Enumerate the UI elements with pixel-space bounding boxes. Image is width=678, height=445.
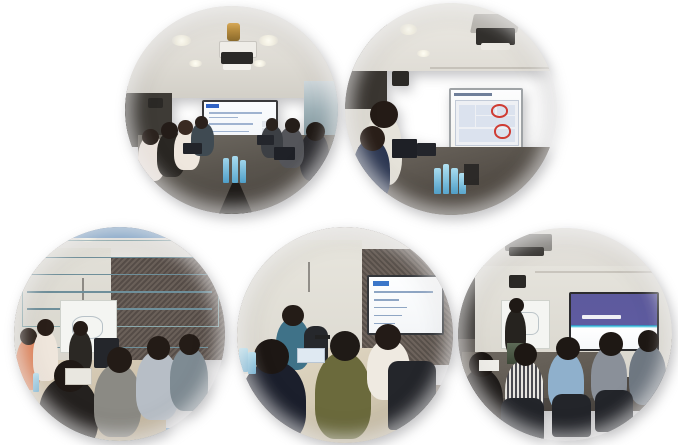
presenter-head	[73, 321, 88, 336]
wall-trim	[430, 67, 549, 69]
photo-4-image	[237, 227, 453, 443]
collage-photo-1[interactable]	[125, 6, 338, 214]
laptop	[274, 147, 295, 159]
conference-room-scene-5	[458, 228, 672, 441]
ceiling-light-icon	[417, 50, 430, 57]
water-bottle	[443, 164, 450, 194]
laptop	[257, 135, 274, 145]
laptop	[183, 143, 202, 153]
participant-head	[107, 347, 132, 373]
attendee-head	[599, 332, 623, 355]
woman-head	[370, 101, 398, 129]
speaker-icon	[392, 71, 409, 86]
tissue-box	[65, 368, 92, 385]
ac-cable	[308, 262, 310, 292]
participant-head	[147, 336, 170, 360]
participant	[170, 347, 208, 411]
attendee-head	[556, 337, 580, 360]
projector-mount-icon	[223, 64, 251, 70]
photo-collage	[0, 0, 678, 445]
meeting-room-scene-4	[237, 227, 453, 443]
tissue-box	[297, 348, 325, 363]
ceiling-light-icon	[172, 35, 191, 45]
attendee-head	[266, 118, 279, 130]
meeting-room-scene-2	[345, 3, 557, 215]
photo-5-image	[458, 228, 672, 441]
laptop	[392, 139, 417, 158]
water-bottle	[239, 348, 248, 372]
wall-display-2	[449, 88, 523, 151]
wall-display-4	[367, 275, 444, 335]
participant-head	[179, 334, 200, 355]
ceiling-light-icon	[259, 35, 278, 45]
water-bottle	[223, 158, 229, 183]
projector-body-icon	[509, 247, 543, 256]
meeting-room-scene-1	[125, 6, 338, 214]
wall-trim	[535, 271, 668, 273]
speaker-icon	[509, 275, 526, 288]
office-chair	[388, 361, 436, 430]
collage-photo-4[interactable]	[237, 227, 453, 443]
attendee-head	[195, 116, 208, 128]
speaker-icon	[148, 98, 163, 108]
water-bottle	[248, 352, 257, 374]
laptop	[479, 360, 498, 371]
attendee-foreground	[315, 352, 371, 438]
slide-title-bar	[582, 315, 621, 319]
water-bottle	[240, 160, 246, 183]
office-chair	[501, 398, 544, 441]
attendee-foreground	[460, 369, 503, 433]
water-bottle	[232, 156, 238, 183]
photo-1-image	[125, 6, 338, 214]
water-bottle	[434, 168, 441, 193]
water-bottle	[451, 168, 458, 193]
attendee	[629, 345, 665, 405]
collage-photo-5[interactable]	[458, 228, 672, 441]
ceiling-light-icon	[400, 24, 417, 35]
projector-body-icon	[221, 52, 253, 64]
office-chair	[595, 390, 634, 433]
pendant-lamp-icon	[227, 23, 240, 42]
attendee-head	[638, 330, 659, 351]
office-chair	[552, 394, 591, 437]
participant	[94, 364, 140, 437]
desk-microphone	[417, 143, 436, 156]
ceiling-light-icon	[253, 60, 266, 67]
ceiling	[345, 3, 557, 71]
pen	[315, 335, 330, 339]
photo-2-image	[345, 3, 557, 215]
training-room-scene-3	[14, 227, 225, 441]
attendee-head	[330, 331, 360, 361]
man-head	[282, 305, 304, 327]
collage-photo-2[interactable]	[345, 3, 557, 215]
attendee-head	[254, 339, 289, 374]
projector-mount-icon	[481, 43, 511, 49]
attendee-head	[285, 118, 300, 133]
collage-photo-3[interactable]	[14, 227, 225, 441]
water-bottle	[33, 373, 39, 392]
table-box	[464, 164, 479, 185]
photo-3-image	[14, 227, 225, 441]
